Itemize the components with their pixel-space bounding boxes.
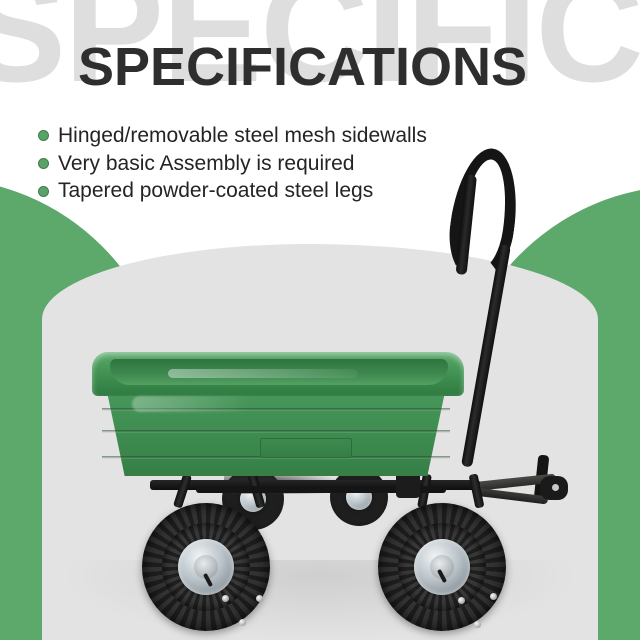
tub-interior-highlight bbox=[168, 369, 358, 378]
tub-rim bbox=[92, 352, 464, 396]
hub-lug bbox=[458, 597, 465, 604]
tub-interior bbox=[110, 359, 448, 385]
hub-lug bbox=[222, 595, 229, 602]
hub-lug bbox=[239, 619, 246, 626]
front-wheel bbox=[142, 503, 270, 631]
product-spec-graphic: SPECIFICATIONS SPECIFICATIONS Hinged/rem… bbox=[0, 0, 640, 640]
hub-lug bbox=[256, 595, 263, 602]
hitch-pin bbox=[552, 484, 559, 491]
rear-wheel bbox=[378, 503, 506, 631]
pull-handle-grip bbox=[443, 144, 525, 284]
tub-rib bbox=[102, 430, 450, 433]
tub-id-plate bbox=[260, 438, 352, 458]
product-image-garden-dump-cart bbox=[0, 0, 640, 640]
poly-dump-tub bbox=[92, 352, 464, 484]
hub-lug bbox=[490, 593, 497, 600]
tub-highlight bbox=[132, 396, 252, 412]
hub-lug bbox=[474, 621, 481, 628]
